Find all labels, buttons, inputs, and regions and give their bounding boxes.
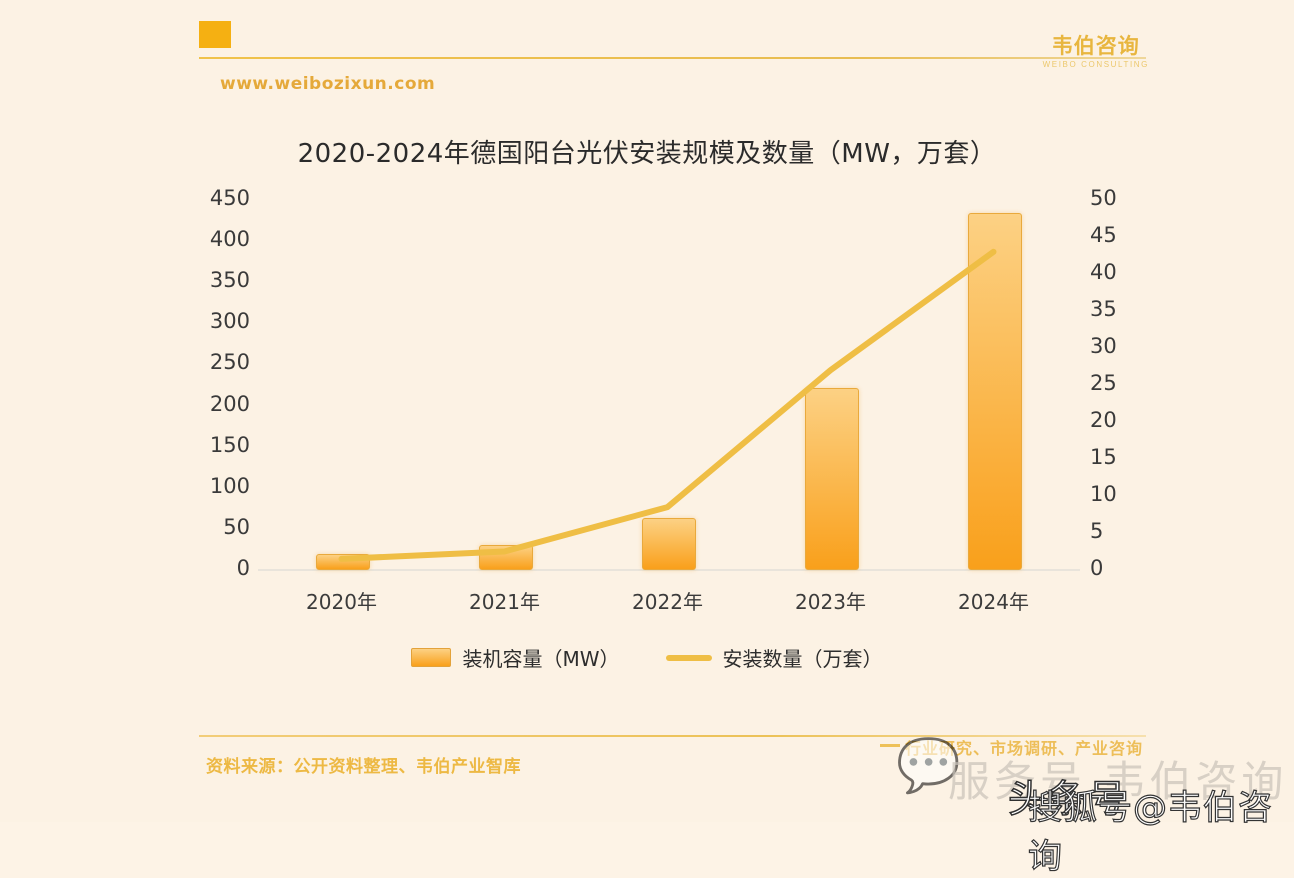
line-series xyxy=(260,200,1075,570)
legend-bar-label: 装机容量（MW） xyxy=(462,643,619,672)
y-axis-right-tick: 30 xyxy=(1090,334,1150,358)
y-axis-right-tick: 45 xyxy=(1090,223,1150,247)
y-axis-right-tick: 15 xyxy=(1090,445,1150,469)
x-axis-label: 2024年 xyxy=(919,586,1069,615)
y-axis-left-tick: 300 xyxy=(190,309,250,333)
y-axis-left-tick: 100 xyxy=(190,474,250,498)
header-divider xyxy=(199,57,1146,59)
legend-line-swatch-icon xyxy=(666,655,712,661)
line-path xyxy=(342,252,994,559)
x-axis-label: 2020年 xyxy=(267,586,417,615)
x-axis-label: 2021年 xyxy=(430,586,580,615)
y-axis-right-tick: 5 xyxy=(1090,519,1150,543)
brand-logo: 韦伯咨询 WEIBO CONSULTING xyxy=(1043,35,1149,69)
y-axis-left-tick: 200 xyxy=(190,392,250,416)
website-url: www.weibozixun.com xyxy=(220,74,435,94)
brand-square-icon xyxy=(199,21,231,48)
legend-bar-swatch-icon xyxy=(411,648,451,667)
legend-line-label: 安装数量（万套） xyxy=(723,643,883,672)
x-axis-label: 2022年 xyxy=(593,586,743,615)
y-axis-left-tick: 150 xyxy=(190,433,250,457)
x-axis-label: 2023年 xyxy=(756,586,906,615)
chart-title: 2020-2024年德国阳台光伏安装规模及数量（MW，万套） xyxy=(0,133,1294,170)
sohu-watermark: 搜狐号@韦伯咨询 xyxy=(1028,780,1294,878)
y-axis-left-tick: 0 xyxy=(190,556,250,580)
y-axis-right-tick: 35 xyxy=(1090,297,1150,321)
y-axis-left-tick: 50 xyxy=(190,515,250,539)
legend-item-bar[interactable]: 装机容量（MW） xyxy=(411,643,619,672)
source-note: 资料来源：公开资料整理、韦伯产业智库 xyxy=(206,752,521,777)
y-axis-left-tick: 250 xyxy=(190,350,250,374)
y-axis-right-tick: 40 xyxy=(1090,260,1150,284)
legend-item-line[interactable]: 安装数量（万套） xyxy=(666,643,883,672)
brand-logo-cn: 韦伯咨询 xyxy=(1043,35,1149,58)
y-axis-right-tick: 10 xyxy=(1090,482,1150,506)
y-axis-left-tick: 350 xyxy=(190,268,250,292)
chart-legend: 装机容量（MW） 安装数量（万套） xyxy=(0,643,1294,672)
y-axis-left-tick: 450 xyxy=(190,186,250,210)
chart-page: www.weibozixun.com 韦伯咨询 WEIBO CONSULTING… xyxy=(0,0,1294,822)
y-axis-left-tick: 400 xyxy=(190,227,250,251)
y-axis-right-tick: 25 xyxy=(1090,371,1150,395)
plot-area xyxy=(260,200,1075,570)
y-axis-right-tick: 20 xyxy=(1090,408,1150,432)
brand-logo-en: WEIBO CONSULTING xyxy=(1043,60,1149,69)
y-axis-right-tick: 0 xyxy=(1090,556,1150,580)
y-axis-right-tick: 50 xyxy=(1090,186,1150,210)
